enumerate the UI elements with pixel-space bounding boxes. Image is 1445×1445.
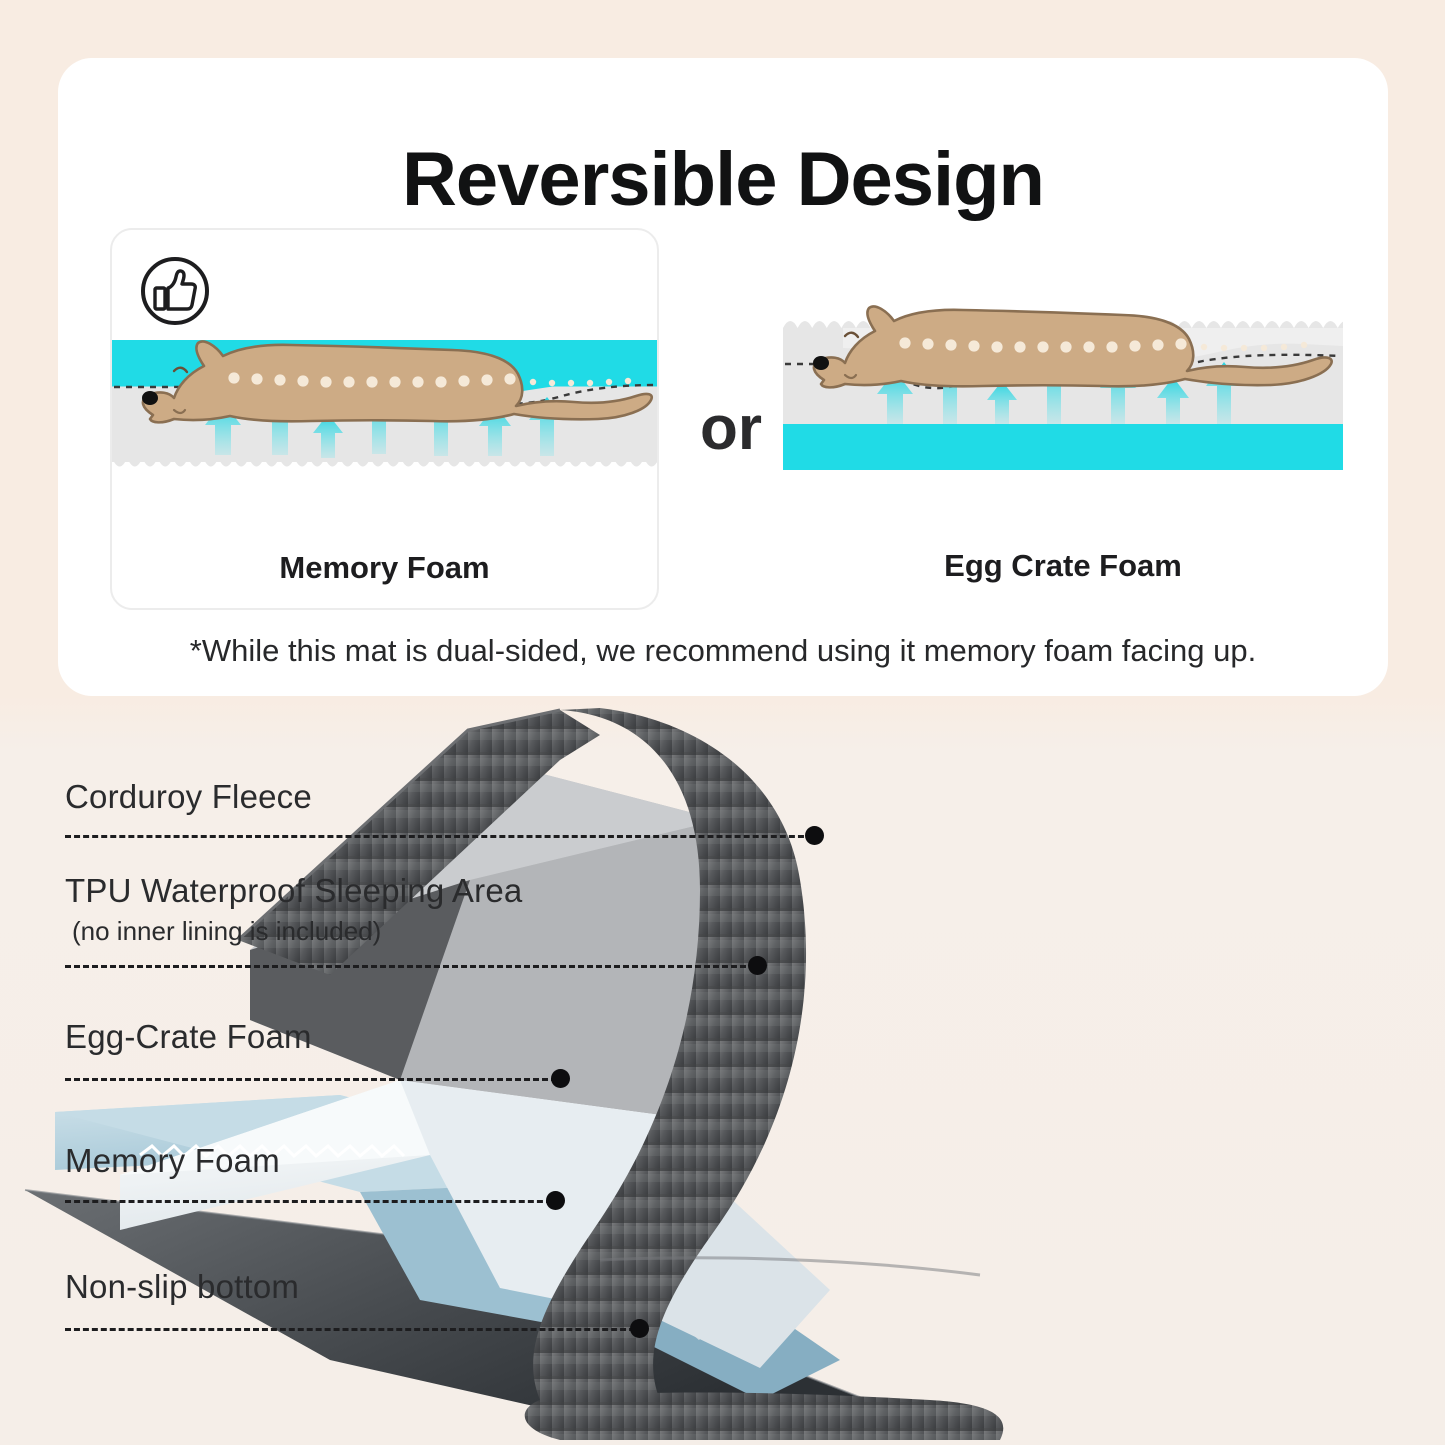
- or-separator: or: [671, 393, 791, 464]
- leader-dot-tpu-area: [748, 956, 767, 975]
- leader-line-memory-foam: [65, 1200, 552, 1203]
- callout-label-corduroy-fleece: Corduroy Fleece: [65, 778, 312, 816]
- leader-line-tpu-area: [65, 965, 755, 968]
- thumbs-up-icon: [138, 254, 212, 328]
- memory-foam-caption: Memory Foam: [112, 550, 657, 586]
- leader-line-non-slip-bottom: [65, 1328, 635, 1331]
- callout-label-tpu-area: TPU Waterproof Sleeping Area: [65, 872, 522, 910]
- leader-dot-corduroy-fleece: [805, 826, 824, 845]
- leader-line-corduroy-fleece: [65, 835, 813, 838]
- callout-label-non-slip-bottom: Non-slip bottom: [65, 1268, 299, 1306]
- callout-label-memory-foam: Memory Foam: [65, 1142, 280, 1180]
- leader-dot-non-slip-bottom: [630, 1319, 649, 1338]
- callout-sublabel-tpu-area: (no inner lining is included): [72, 916, 381, 947]
- callout-label-egg-crate-foam: Egg-Crate Foam: [65, 1018, 312, 1056]
- egg-crate-foam-caption: Egg Crate Foam: [783, 548, 1343, 584]
- leader-dot-memory-foam: [546, 1191, 565, 1210]
- memory-foam-layer-cyan: [783, 424, 1343, 470]
- leader-line-egg-crate-foam: [65, 1078, 557, 1081]
- reversible-design-card: Reversible Design: [58, 58, 1388, 696]
- layer-breakdown-section: Corduroy Fleece TPU Waterproof Sleeping …: [0, 700, 1445, 1445]
- page-title: Reversible Design: [58, 136, 1388, 223]
- leader-dot-egg-crate-foam: [551, 1069, 570, 1088]
- egg-crate-foam-panel: Egg Crate Foam: [783, 228, 1343, 606]
- memory-foam-panel: Memory Foam: [110, 228, 659, 610]
- footnote-text: *While this mat is dual-sided, we recomm…: [58, 633, 1388, 669]
